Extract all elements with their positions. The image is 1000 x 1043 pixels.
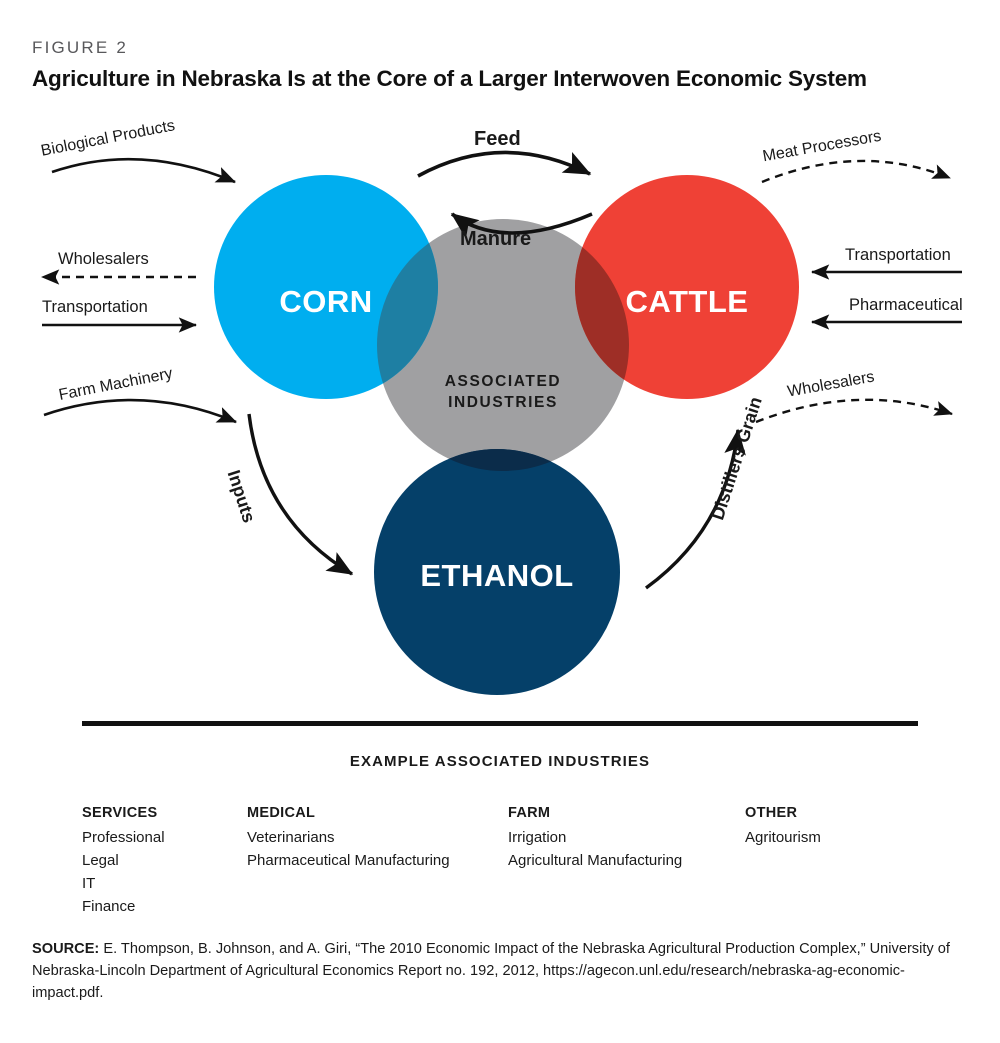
venn-diagram: CORN CATTLE ETHANOL ASSOCIATED INDUSTRIE…	[0, 110, 1000, 710]
column-heading: SERVICES	[82, 805, 165, 821]
industries-column-other: OTHER Agritourism	[745, 805, 821, 850]
list-item: Irrigation	[508, 827, 682, 850]
list-item: IT	[82, 873, 165, 896]
list-item: Pharmaceutical Manufacturing	[247, 850, 450, 873]
flow-label-feed: Feed	[474, 128, 521, 151]
industries-heading: EXAMPLE ASSOCIATED INDUSTRIES	[0, 753, 1000, 770]
list-item: Professional	[82, 827, 165, 850]
associated-line-2: INDUSTRIES	[403, 393, 603, 414]
associated-line-1: ASSOCIATED	[403, 372, 603, 393]
flow-arrow-feed	[418, 152, 590, 176]
flow-label-manure: Manure	[460, 228, 531, 251]
list-item: Finance	[82, 896, 165, 919]
industries-column-services: SERVICES Professional Legal IT Finance	[82, 805, 165, 919]
column-heading: MEDICAL	[247, 805, 450, 821]
flow-label-pharmaceutical: Pharmaceutical	[849, 296, 963, 315]
flow-arrow-inputs	[249, 414, 352, 574]
column-heading: OTHER	[745, 805, 821, 821]
flow-arrow-farm-machinery	[44, 400, 236, 422]
figure-title: Agriculture in Nebraska Is at the Core o…	[32, 66, 962, 92]
flow-label-transportation-left: Transportation	[42, 298, 148, 317]
list-item: Veterinarians	[247, 827, 450, 850]
list-item: Agritourism	[745, 827, 821, 850]
circle-label-associated-industries: ASSOCIATED INDUSTRIES	[403, 372, 603, 413]
circle-ethanol	[374, 449, 620, 695]
column-heading: FARM	[508, 805, 682, 821]
industries-column-farm: FARM Irrigation Agricultural Manufacturi…	[508, 805, 682, 873]
flow-arrow-meat-processors	[762, 161, 950, 182]
flow-label-wholesalers-left: Wholesalers	[58, 250, 149, 269]
industries-column-medical: MEDICAL Veterinarians Pharmaceutical Man…	[247, 805, 450, 873]
source-prefix: SOURCE:	[32, 941, 99, 957]
source-note: SOURCE: E. Thompson, B. Johnson, and A. …	[32, 938, 974, 1005]
flow-label-transportation-right: Transportation	[845, 246, 951, 265]
figure-label: FIGURE 2	[32, 38, 128, 58]
list-item: Agricultural Manufacturing	[508, 850, 682, 873]
section-divider	[82, 721, 918, 726]
flow-arrow-biological-products	[52, 159, 235, 182]
source-text: E. Thompson, B. Johnson, and A. Giri, “T…	[32, 941, 950, 1001]
flow-arrow-wholesalers-right	[756, 400, 952, 422]
list-item: Legal	[82, 850, 165, 873]
